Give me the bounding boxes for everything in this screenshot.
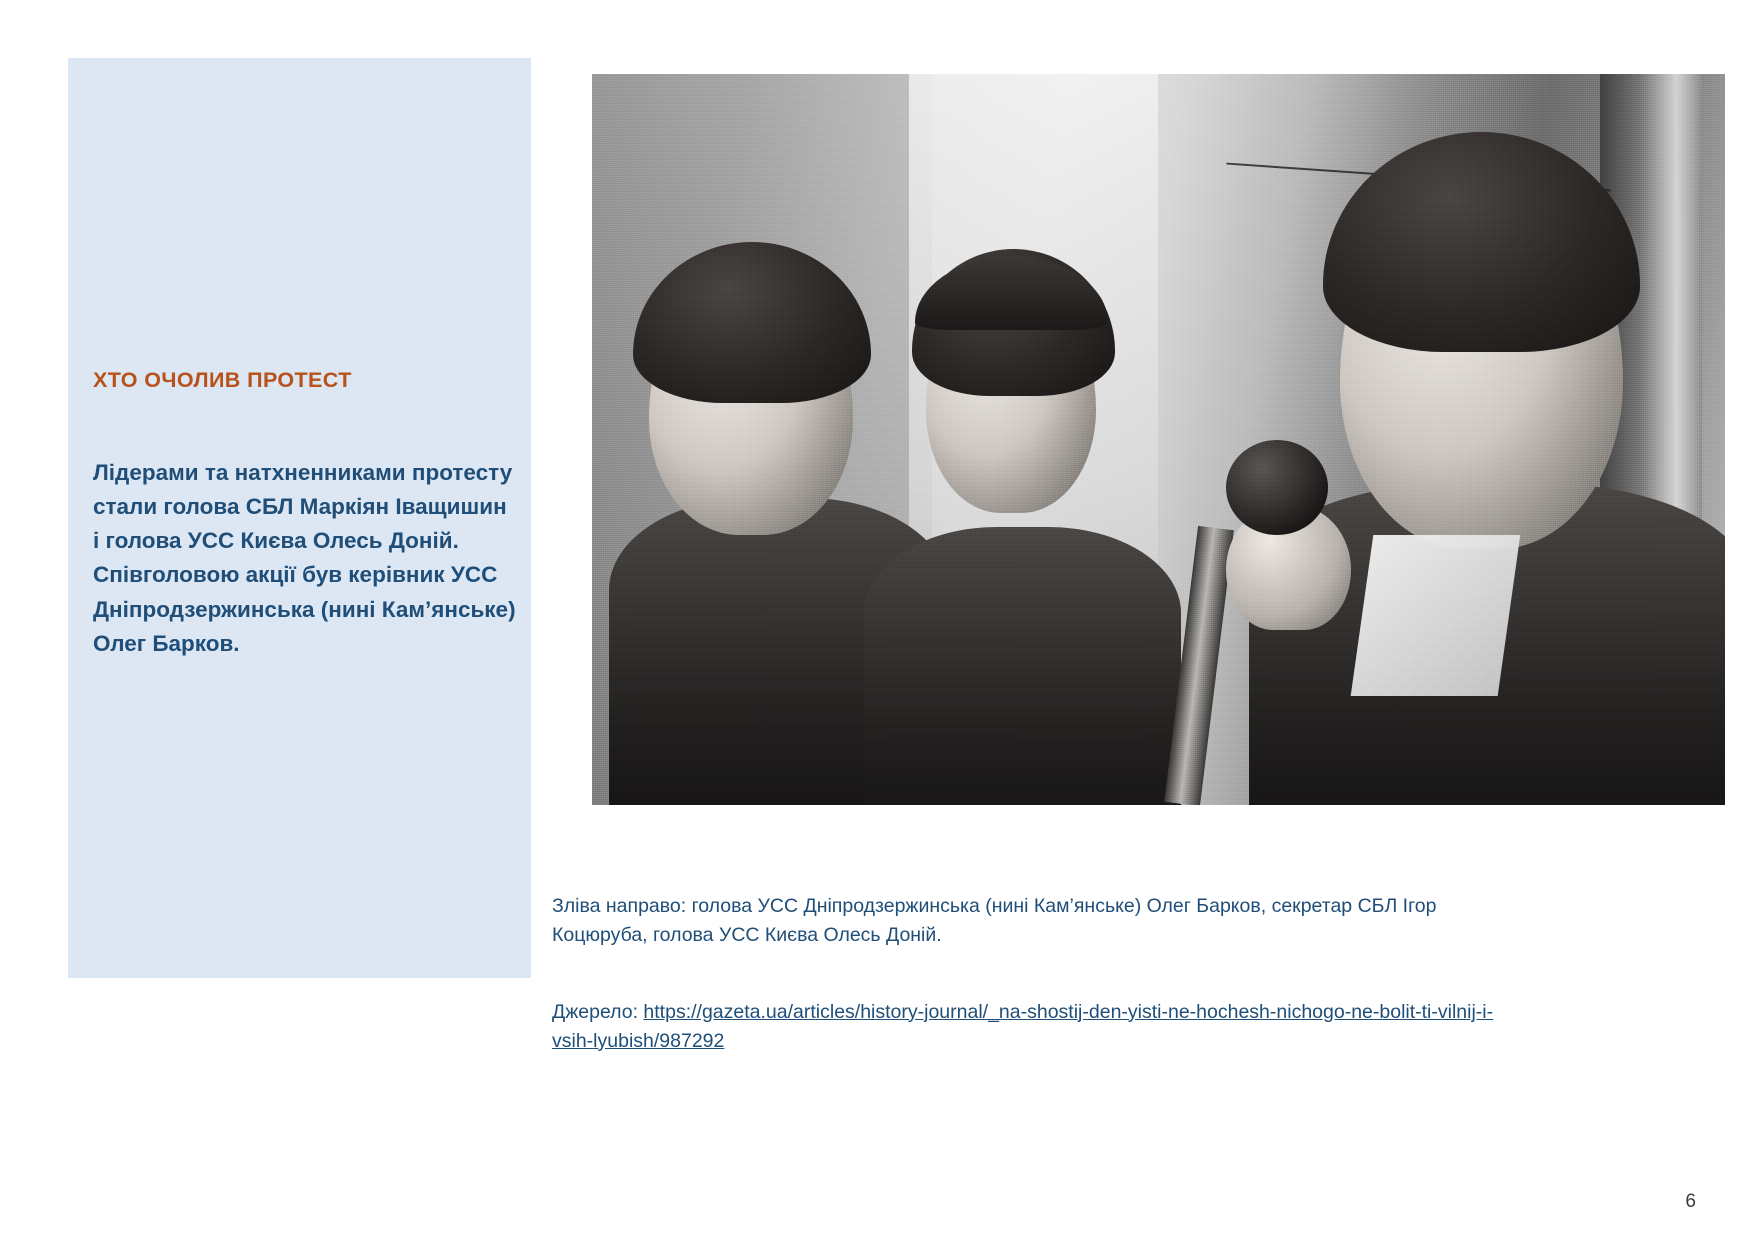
left-text-panel: ХТО ОЧОЛИВ ПРОТЕСТ Лідерами та натхненни… [68,58,531,978]
photo-caption: Зліва направо: голова УСС Дніпродзержинс… [552,892,1497,950]
page-number: 6 [1685,1191,1696,1213]
left-panel-content: ХТО ОЧОЛИВ ПРОТЕСТ Лідерами та натхненни… [93,368,518,661]
source-url-link[interactable]: https://gazeta.ua/articles/history-journ… [552,1001,1493,1052]
section-heading: ХТО ОЧОЛИВ ПРОТЕСТ [93,368,518,394]
photo-figure [592,74,1725,805]
caption-block: Зліва направо: голова УСС Дніпродзержинс… [552,892,1497,1055]
photo-film-grain [592,74,1725,805]
source-line: Джерело: https://gazeta.ua/articles/hist… [552,998,1497,1056]
protest-leaders-photo [592,74,1725,805]
section-body-text: Лідерами та натхненниками протесту стали… [93,456,518,661]
source-label: Джерело: [552,1001,643,1023]
